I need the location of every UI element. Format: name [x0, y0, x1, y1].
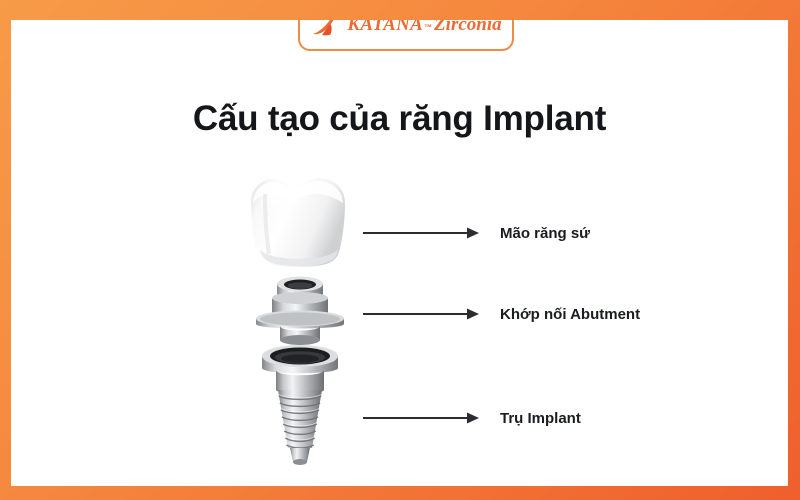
- arrow-to-abutment-label: [363, 307, 479, 321]
- abutment-connector-icon: [250, 272, 350, 350]
- label-abutment: Khớp nối Abutment: [500, 306, 640, 323]
- poster-frame: KATANA ™ Zirconia Cấu tạo của răng Impla…: [0, 0, 800, 500]
- label-implant: Trụ Implant: [500, 410, 581, 427]
- dental-crown-icon: [239, 172, 357, 272]
- poster-canvas: KATANA ™ Zirconia Cấu tạo của răng Impla…: [11, 20, 788, 486]
- label-crown: Mão răng sứ: [500, 225, 590, 242]
- implant-diagram: Mão răng sứ Khớp nối Abutment Trụ Implan…: [11, 20, 788, 486]
- arrow-to-crown-label: [363, 226, 479, 240]
- implant-screw-icon: [250, 344, 350, 468]
- arrow-to-implant-label: [363, 411, 479, 425]
